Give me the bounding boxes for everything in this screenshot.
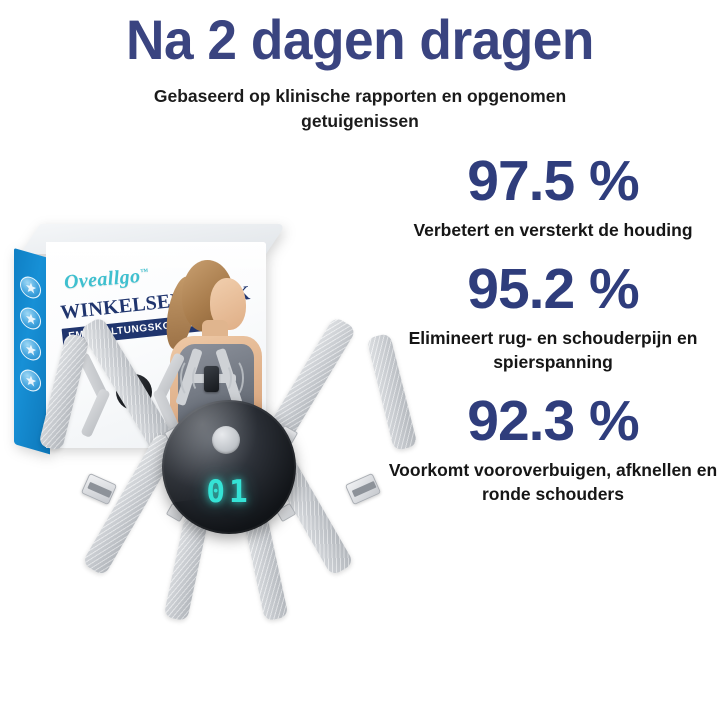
box-spine-icons: [20, 260, 44, 447]
device-control-unit: 01: [162, 400, 296, 534]
stat-item: 97.5 % Verbetert en versterkt de houding: [386, 148, 720, 242]
page-subtitle: Gebaseerd op klinische rapporten en opge…: [110, 84, 610, 134]
brand-logo: Oveallgo™: [63, 264, 150, 294]
trademark-symbol: ™: [140, 267, 149, 277]
strap-buckle-right: [345, 473, 381, 505]
harness-strap-tail-right: [243, 515, 288, 622]
page-title: Na 2 dagen dragen: [18, 8, 702, 72]
statistics-list: 97.5 % Verbetert en versterkt de houding…: [386, 148, 720, 506]
feature-badge-icon: [20, 305, 41, 332]
stat-label: Verbetert en versterkt de houding: [386, 218, 720, 242]
strap-texture: [243, 515, 288, 622]
stat-value: 97.5 %: [386, 148, 720, 214]
stat-item: 95.2 % Elimineert rug- en schouderpijn e…: [386, 256, 720, 374]
brand-name: Oveallgo: [63, 265, 141, 294]
feature-badge-icon: [20, 336, 41, 363]
feature-badge-icon: [20, 274, 41, 301]
strap-texture: [163, 515, 208, 622]
stat-value: 92.3 %: [386, 388, 720, 454]
stat-label: Voorkomt vooroverbuigen, afknellen en ro…: [386, 458, 720, 506]
stat-item: 92.3 % Voorkomt vooroverbuigen, afknelle…: [386, 388, 720, 506]
power-button[interactable]: [212, 426, 240, 454]
feature-badge-icon: [20, 367, 41, 394]
device-led-display: 01: [162, 474, 296, 510]
strap-buckle-left: [81, 473, 117, 505]
product-image: Oveallgo™ WINKELSENSORIK EMS-HALTUNGSKOR…: [0, 212, 404, 652]
stat-value: 95.2 %: [386, 256, 720, 322]
posture-corrector-device: 01: [58, 308, 404, 620]
stat-label: Elimineert rug- en schouderpijn en spier…: [386, 326, 720, 374]
promo-poster: Na 2 dagen dragen Gebaseerd op klinische…: [0, 0, 720, 720]
harness-strap-tail-left: [163, 515, 208, 622]
